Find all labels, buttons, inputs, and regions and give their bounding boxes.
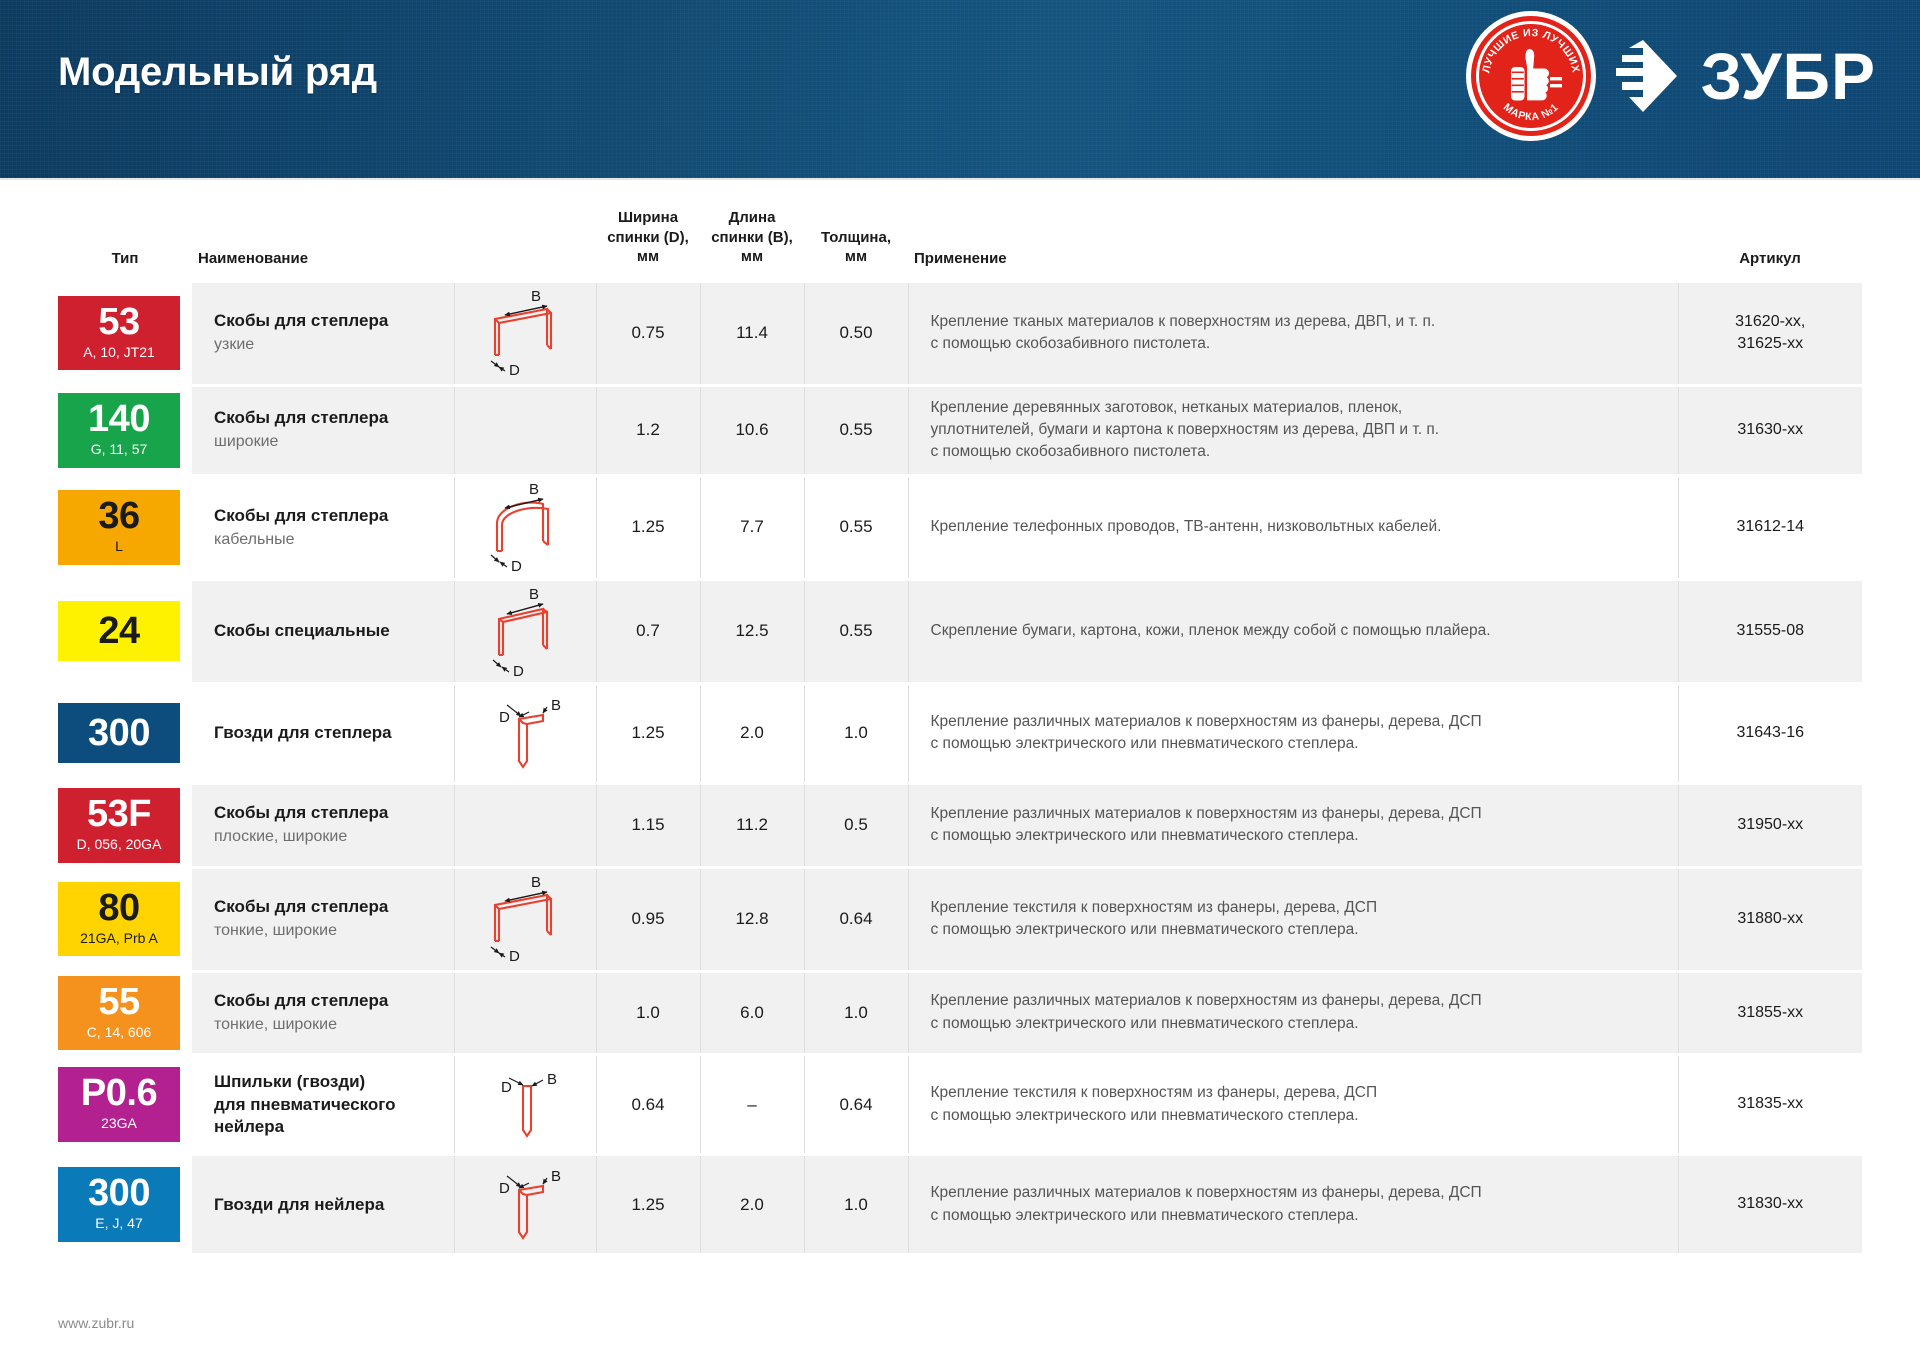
svg-text:B: B	[551, 1168, 561, 1185]
col-header-width-line2: спинки (D), мм	[602, 228, 694, 267]
col-header-name: Наименование	[192, 190, 454, 283]
name-cell: Скобы для степлера тонкие, широкие	[192, 869, 454, 970]
col-header-picture	[454, 190, 596, 283]
diagram-cell: BD	[454, 581, 596, 682]
col-header-thickness: Толщина, мм	[804, 190, 908, 283]
application-cell: Крепление различных материалов к поверхн…	[908, 785, 1678, 866]
type-badge-number: 53F	[87, 796, 151, 832]
length-cell: 12.8	[700, 869, 804, 970]
type-badge-subtitle: E, J, 47	[95, 1215, 142, 1233]
table-row: 140 G, 11, 57 Скобы для степлера широкие…	[58, 387, 1862, 474]
type-badge: 140 G, 11, 57	[58, 393, 180, 468]
type-badge-subtitle: A, 10, JT21	[83, 344, 155, 362]
text-line: 31880-xx	[1679, 908, 1863, 930]
name-cell: Гвозди для нейлера	[192, 1156, 454, 1253]
article-cell: 31950-xx	[1678, 785, 1862, 866]
page-header: Модельный ряд ЛУЧШИЕ ИЗ ЛУЧШИХ	[0, 0, 1920, 178]
width-cell: 0.7	[596, 581, 700, 682]
width-cell: 0.75	[596, 283, 700, 384]
text-line: Скобы для степлера	[214, 407, 444, 429]
text-line: 31630-xx	[1679, 419, 1863, 441]
type-badge-number: 24	[98, 613, 139, 649]
width-cell: 1.25	[596, 1156, 700, 1253]
type-badge-number: P0.6	[81, 1075, 157, 1111]
col-header-width-line1: Ширина	[602, 208, 694, 228]
diagram-cell: DB	[454, 1156, 596, 1253]
text-line: Скобы для степлера	[214, 505, 444, 527]
staple-square-diagram-icon: BD	[469, 869, 581, 965]
length-cell: 6.0	[700, 973, 804, 1054]
type-badge: 53F D, 056, 20GA	[58, 788, 180, 863]
application-cell: Крепление тканых материалов к поверхност…	[908, 283, 1678, 384]
type-badge-number: 300	[88, 1175, 150, 1211]
type-cell: 300 E, J, 47	[58, 1156, 192, 1253]
diagram-cell: DB	[454, 1056, 596, 1153]
thickness-cell: 0.5	[804, 785, 908, 866]
thickness-cell: 0.50	[804, 283, 908, 384]
type-badge-number: 53	[98, 304, 139, 340]
text-line: 31555-08	[1679, 620, 1863, 642]
name-cell: Скобы специальные	[192, 581, 454, 682]
type-badge: 300 E, J, 47	[58, 1167, 180, 1242]
text-line: Крепление различных материалов к поверхн…	[931, 803, 1662, 825]
type-badge-number: 300	[88, 715, 150, 751]
table-row: 53F D, 056, 20GA Скобы для степлера плос…	[58, 785, 1862, 866]
svg-text:МАРКА №1: МАРКА №1	[1501, 101, 1561, 123]
table-row: 80 21GA, Prb A Скобы для степлера тонкие…	[58, 869, 1862, 970]
length-cell: –	[700, 1056, 804, 1153]
text-line: Скобы для степлера	[214, 990, 444, 1012]
text-line: Гвозди для степлера	[214, 722, 444, 744]
text-line: 31835-xx	[1679, 1093, 1863, 1115]
text-line: с помощью электрического или пневматичес…	[931, 1205, 1662, 1227]
thickness-cell: 1.0	[804, 1156, 908, 1253]
table-body: 53 A, 10, JT21 Скобы для степлера узкие …	[58, 283, 1862, 1257]
type-badge-number: 36	[98, 498, 139, 534]
svg-text:D: D	[509, 362, 520, 379]
text-line: Крепление различных материалов к поверхн…	[931, 1182, 1662, 1204]
text-line: 31950-xx	[1679, 814, 1863, 836]
type-badge: 80 21GA, Prb A	[58, 882, 180, 957]
width-cell: 0.64	[596, 1056, 700, 1153]
name-cell: Скобы для степлера плоские, широкие	[192, 785, 454, 866]
diagram-cell: BD	[454, 283, 596, 384]
type-cell: 53F D, 056, 20GA	[58, 785, 192, 866]
application-cell: Крепление различных материалов к поверхн…	[908, 685, 1678, 782]
product-name: Шпильки (гвозди)для пневматическогонейле…	[214, 1071, 444, 1137]
type-cell: 24	[58, 581, 192, 682]
type-badge: 300	[58, 703, 180, 763]
text-line: с помощью электрического или пневматичес…	[931, 825, 1662, 847]
slide-page: Модельный ряд ЛУЧШИЕ ИЗ ЛУЧШИХ	[0, 0, 1920, 1357]
product-name: Скобы для степлера	[214, 802, 444, 824]
thickness-cell: 0.55	[804, 387, 908, 474]
svg-text:B: B	[551, 697, 561, 714]
svg-text:D: D	[499, 709, 510, 726]
thickness-cell: 0.64	[804, 1056, 908, 1153]
svg-text:B: B	[547, 1071, 557, 1088]
pin-diagram-icon: DB	[469, 1056, 581, 1148]
type-badge-subtitle: D, 056, 20GA	[77, 836, 162, 854]
svg-text:D: D	[509, 948, 520, 965]
article-cell: 31643-16	[1678, 685, 1862, 782]
product-subtitle: широкие	[214, 431, 444, 453]
application-cell: Крепление деревянных заготовок, нетканых…	[908, 387, 1678, 474]
text-line: с помощью скобозабивного пистолета.	[931, 333, 1662, 355]
text-line: Крепление текстиля к поверхностям из фан…	[931, 1082, 1662, 1104]
name-cell: Гвозди для степлера	[192, 685, 454, 782]
col-header-application: Применение	[908, 190, 1678, 283]
text-line: с помощью электрического или пневматичес…	[931, 1013, 1662, 1035]
width-cell: 1.25	[596, 685, 700, 782]
type-badge-subtitle: 21GA, Prb A	[80, 930, 158, 948]
diagram-cell	[454, 973, 596, 1054]
text-line: 31830-xx	[1679, 1193, 1863, 1215]
text-line: Скобы специальные	[214, 620, 444, 642]
table-row: 55 C, 14, 606 Скобы для степлера тонкие,…	[58, 973, 1862, 1054]
svg-text:B: B	[529, 586, 539, 603]
table-header-row: Тип Наименование Ширина спинки (D), мм Д…	[58, 190, 1862, 283]
article-cell: 31880-xx	[1678, 869, 1862, 970]
text-line: Крепление текстиля к поверхностям из фан…	[931, 897, 1662, 919]
width-cell: 1.0	[596, 973, 700, 1054]
type-badge: 53 A, 10, JT21	[58, 296, 180, 371]
table-row: 53 A, 10, JT21 Скобы для степлера узкие …	[58, 283, 1862, 384]
thickness-cell: 1.0	[804, 685, 908, 782]
col-header-length-line1: Длина	[706, 208, 798, 228]
table-row: P0.6 23GA Шпильки (гвозди)для пневматиче…	[58, 1056, 1862, 1153]
thickness-cell: 0.55	[804, 581, 908, 682]
type-cell: 140 G, 11, 57	[58, 387, 192, 474]
length-cell: 2.0	[700, 685, 804, 782]
text-line: 31855-xx	[1679, 1002, 1863, 1024]
application-cell: Крепление различных материалов к поверхн…	[908, 973, 1678, 1054]
product-name: Гвозди для нейлера	[214, 1194, 444, 1216]
name-cell: Скобы для степлера узкие	[192, 283, 454, 384]
application-cell: Крепление различных материалов к поверхн…	[908, 1156, 1678, 1253]
type-cell: 80 21GA, Prb A	[58, 869, 192, 970]
text-line: Скобы для степлера	[214, 310, 444, 332]
zubr-diamond-icon	[1613, 38, 1679, 114]
text-line: Крепление различных материалов к поверхн…	[931, 711, 1662, 733]
application-cell: Крепление текстиля к поверхностям из фан…	[908, 869, 1678, 970]
type-badge-subtitle: C, 14, 606	[87, 1024, 152, 1042]
models-table: Тип Наименование Ширина спинки (D), мм Д…	[58, 190, 1862, 1256]
width-cell: 1.15	[596, 785, 700, 866]
diagram-cell	[454, 387, 596, 474]
svg-text:D: D	[501, 1079, 512, 1096]
width-cell: 1.25	[596, 477, 700, 578]
product-name: Скобы для степлера	[214, 990, 444, 1012]
product-name: Скобы для степлера	[214, 896, 444, 918]
best-of-best-seal-icon: ЛУЧШИЕ ИЗ ЛУЧШИХ МАРКА №1	[1471, 16, 1591, 136]
svg-text:B: B	[529, 481, 539, 498]
type-badge: 24	[58, 601, 180, 661]
text-line: уплотнителей, бумаги и картона к поверхн…	[931, 419, 1662, 441]
length-cell: 11.2	[700, 785, 804, 866]
text-line: нейлера	[214, 1116, 444, 1138]
zubr-wordmark: ЗУБР	[1701, 43, 1876, 109]
text-line: с помощью скобозабивного пистолета.	[931, 441, 1662, 463]
page-title: Модельный ряд	[58, 50, 377, 95]
svg-text:D: D	[513, 663, 524, 677]
type-cell: 53 A, 10, JT21	[58, 283, 192, 384]
thumbs-up-icon	[1511, 49, 1562, 101]
product-name: Гвозди для степлера	[214, 722, 444, 744]
length-cell: 7.7	[700, 477, 804, 578]
diagram-cell: DB	[454, 685, 596, 782]
application-cell: Крепление телефонных проводов, ТВ-антенн…	[908, 477, 1678, 578]
thickness-cell: 0.64	[804, 869, 908, 970]
name-cell: Скобы для степлера тонкие, широкие	[192, 973, 454, 1054]
text-line: Скобы для степлера	[214, 802, 444, 824]
width-cell: 0.95	[596, 869, 700, 970]
product-subtitle: кабельные	[214, 529, 444, 551]
col-header-type: Тип	[58, 190, 192, 283]
footer-site-url: www.zubr.ru	[58, 1315, 134, 1331]
col-header-width: Ширина спинки (D), мм	[596, 190, 700, 283]
width-cell: 1.2	[596, 387, 700, 474]
name-cell: Скобы для степлера кабельные	[192, 477, 454, 578]
product-name: Скобы специальные	[214, 620, 444, 642]
length-cell: 10.6	[700, 387, 804, 474]
seal-artwork-icon: ЛУЧШИЕ ИЗ ЛУЧШИХ МАРКА №1	[1471, 16, 1591, 136]
text-line: 31625-xx	[1679, 333, 1863, 355]
text-line: Гвозди для нейлера	[214, 1194, 444, 1216]
type-badge: P0.6 23GA	[58, 1067, 180, 1142]
diagram-cell: BD	[454, 477, 596, 578]
type-badge-subtitle: L	[115, 538, 123, 556]
diagram-cell: BD	[454, 869, 596, 970]
type-badge: 36 L	[58, 490, 180, 565]
product-subtitle: узкие	[214, 334, 444, 356]
text-line: Шпильки (гвозди)	[214, 1071, 444, 1093]
header-divider	[0, 178, 1920, 180]
col-header-article: Артикул	[1678, 190, 1862, 283]
col-header-thickness-line1: Толщина,	[810, 228, 902, 248]
table-row: 300 Гвозди для степлера DB 1.25 2.0 1.0 …	[58, 685, 1862, 782]
table-row: 24 Скобы специальные BD 0.7 12.5 0.55 Ск…	[58, 581, 1862, 682]
text-line: для пневматического	[214, 1094, 444, 1116]
type-cell: 300	[58, 685, 192, 782]
staple-round-diagram-icon: BD	[469, 477, 581, 573]
type-badge-number: 80	[98, 890, 139, 926]
type-cell: P0.6 23GA	[58, 1056, 192, 1153]
staple-square-diagram-icon: BD	[469, 283, 581, 379]
text-line: Крепление телефонных проводов, ТВ-антенн…	[931, 516, 1662, 538]
text-line: с помощью электрического или пневматичес…	[931, 919, 1662, 941]
text-line: с помощью электрического или пневматичес…	[931, 1105, 1662, 1127]
product-subtitle: тонкие, широкие	[214, 920, 444, 942]
table-row: 36 L Скобы для степлера кабельные BD 1.2…	[58, 477, 1862, 578]
brand-lockup: ЛУЧШИЕ ИЗ ЛУЧШИХ МАРКА №1	[1471, 16, 1876, 136]
article-cell: 31630-xx	[1678, 387, 1862, 474]
article-cell: 31830-xx	[1678, 1156, 1862, 1253]
article-cell: 31612-14	[1678, 477, 1862, 578]
type-badge-number: 140	[88, 401, 150, 437]
name-cell: Шпильки (гвозди)для пневматическогонейле…	[192, 1056, 454, 1153]
text-line: 31612-14	[1679, 516, 1863, 538]
length-cell: 2.0	[700, 1156, 804, 1253]
application-cell: Скрепление бумаги, картона, кожи, пленок…	[908, 581, 1678, 682]
text-line: Скрепление бумаги, картона, кожи, пленок…	[931, 620, 1662, 642]
table-row: 300 E, J, 47 Гвозди для нейлера DB 1.25 …	[58, 1156, 1862, 1253]
product-name: Скобы для степлера	[214, 310, 444, 332]
type-cell: 36 L	[58, 477, 192, 578]
name-cell: Скобы для степлера широкие	[192, 387, 454, 474]
product-subtitle: плоские, широкие	[214, 826, 444, 848]
col-header-length-line2: спинки (B), мм	[706, 228, 798, 267]
row-separator	[58, 1253, 1862, 1256]
text-line: 31620-xx,	[1679, 311, 1863, 333]
length-cell: 12.5	[700, 581, 804, 682]
article-cell: 31855-xx	[1678, 973, 1862, 1054]
text-line: 31643-16	[1679, 722, 1863, 744]
diagram-cell	[454, 785, 596, 866]
text-line: Крепление деревянных заготовок, нетканых…	[931, 397, 1662, 419]
article-cell: 31620-xx,31625-xx	[1678, 283, 1862, 384]
article-cell: 31555-08	[1678, 581, 1862, 682]
product-name: Скобы для степлера	[214, 407, 444, 429]
staple-narrow-diagram-icon: BD	[469, 581, 581, 677]
type-badge-subtitle: G, 11, 57	[91, 441, 148, 459]
text-line: с помощью электрического или пневматичес…	[931, 733, 1662, 755]
length-cell: 11.4	[700, 283, 804, 384]
article-cell: 31835-xx	[1678, 1056, 1862, 1153]
thickness-cell: 0.55	[804, 477, 908, 578]
nail-t-diagram-icon: DB	[469, 1156, 581, 1248]
type-badge: 55 C, 14, 606	[58, 976, 180, 1051]
text-line: Скобы для степлера	[214, 896, 444, 918]
type-badge-number: 55	[98, 984, 139, 1020]
svg-text:B: B	[531, 288, 541, 305]
nail-t-diagram-icon: DB	[469, 685, 581, 777]
col-header-thickness-line2: мм	[810, 247, 902, 267]
product-subtitle: тонкие, широкие	[214, 1014, 444, 1036]
text-line: Крепление тканых материалов к поверхност…	[931, 311, 1662, 333]
col-header-length: Длина спинки (B), мм	[700, 190, 804, 283]
svg-text:D: D	[499, 1180, 510, 1197]
svg-text:D: D	[511, 558, 522, 573]
type-cell: 55 C, 14, 606	[58, 973, 192, 1054]
type-badge-subtitle: 23GA	[101, 1115, 137, 1133]
product-name: Скобы для степлера	[214, 505, 444, 527]
svg-text:B: B	[531, 874, 541, 891]
thickness-cell: 1.0	[804, 973, 908, 1054]
application-cell: Крепление текстиля к поверхностям из фан…	[908, 1056, 1678, 1153]
text-line: Крепление различных материалов к поверхн…	[931, 990, 1662, 1012]
